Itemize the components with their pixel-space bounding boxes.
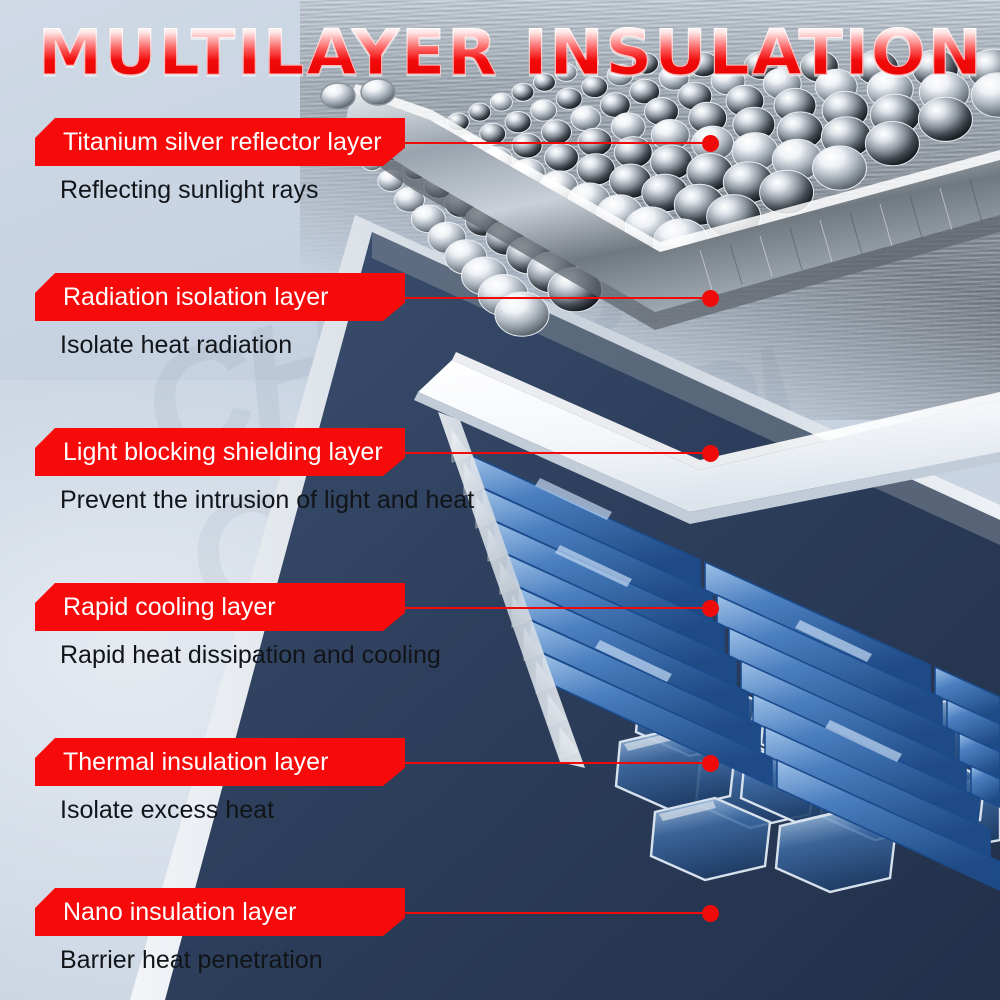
chrome-bubble (469, 103, 491, 121)
callout-target-dot-1 (702, 135, 719, 152)
page-title: MULTILAYER INSULATION (38, 22, 984, 84)
callout-description-4: Rapid heat dissipation and cooling (60, 641, 441, 670)
callout-label: Light blocking shielding layer (63, 438, 383, 467)
callout-leader-line-6 (405, 912, 710, 914)
chrome-bubble (556, 88, 582, 109)
callout-leader-line-1 (405, 142, 710, 144)
chrome-bubble (545, 144, 579, 172)
callout-banner-5: Thermal insulation layer (35, 738, 405, 786)
chrome-bubble (542, 120, 572, 145)
chrome-bubble (918, 97, 972, 141)
callout-target-dot-3 (702, 445, 719, 462)
callout-target-dot-5 (702, 755, 719, 772)
infographic-canvas: CHUSUPPLY CHUSUPPLY CHUSUPPLY CHUSUPPLY (0, 0, 1000, 1000)
callout-banner-3: Light blocking shielding layer (35, 428, 405, 476)
chrome-bubble (611, 113, 645, 141)
callout-target-dot-6 (702, 905, 719, 922)
chrome-bubble (505, 111, 531, 132)
chrome-bubble (651, 145, 693, 179)
chrome-bubble (813, 146, 867, 190)
callout-leader-line-3 (405, 452, 710, 454)
chrome-bubble (490, 93, 512, 111)
callout-description-2: Isolate heat radiation (60, 331, 292, 360)
callout-banner-2: Radiation isolation layer (35, 273, 405, 321)
callout-banner-6: Nano insulation layer (35, 888, 405, 936)
callout-target-dot-4 (702, 600, 719, 617)
callout-label: Rapid cooling layer (63, 593, 276, 622)
callout-description-1: Reflecting sunlight rays (60, 176, 318, 205)
callout-description-3: Prevent the intrusion of light and heat (60, 486, 474, 515)
callout-label: Radiation isolation layer (63, 283, 328, 312)
callout-leader-line-4 (405, 607, 710, 609)
callout-description-5: Isolate excess heat (60, 796, 274, 825)
callout-banner-4: Rapid cooling layer (35, 583, 405, 631)
callout-label: Thermal insulation layer (63, 748, 328, 777)
chrome-bubble (571, 106, 601, 131)
callout-leader-line-2 (405, 297, 710, 299)
callout-leader-line-5 (405, 762, 710, 764)
callout-label: Nano insulation layer (63, 898, 296, 927)
chrome-bubble (865, 122, 919, 166)
chrome-bubble (531, 100, 557, 121)
callout-target-dot-2 (702, 290, 719, 307)
callout-banner-1: Titanium silver reflector layer (35, 118, 405, 166)
chrome-bubble (512, 133, 542, 158)
callout-label: Titanium silver reflector layer (63, 128, 382, 157)
callout-description-6: Barrier heat penetration (60, 946, 323, 975)
